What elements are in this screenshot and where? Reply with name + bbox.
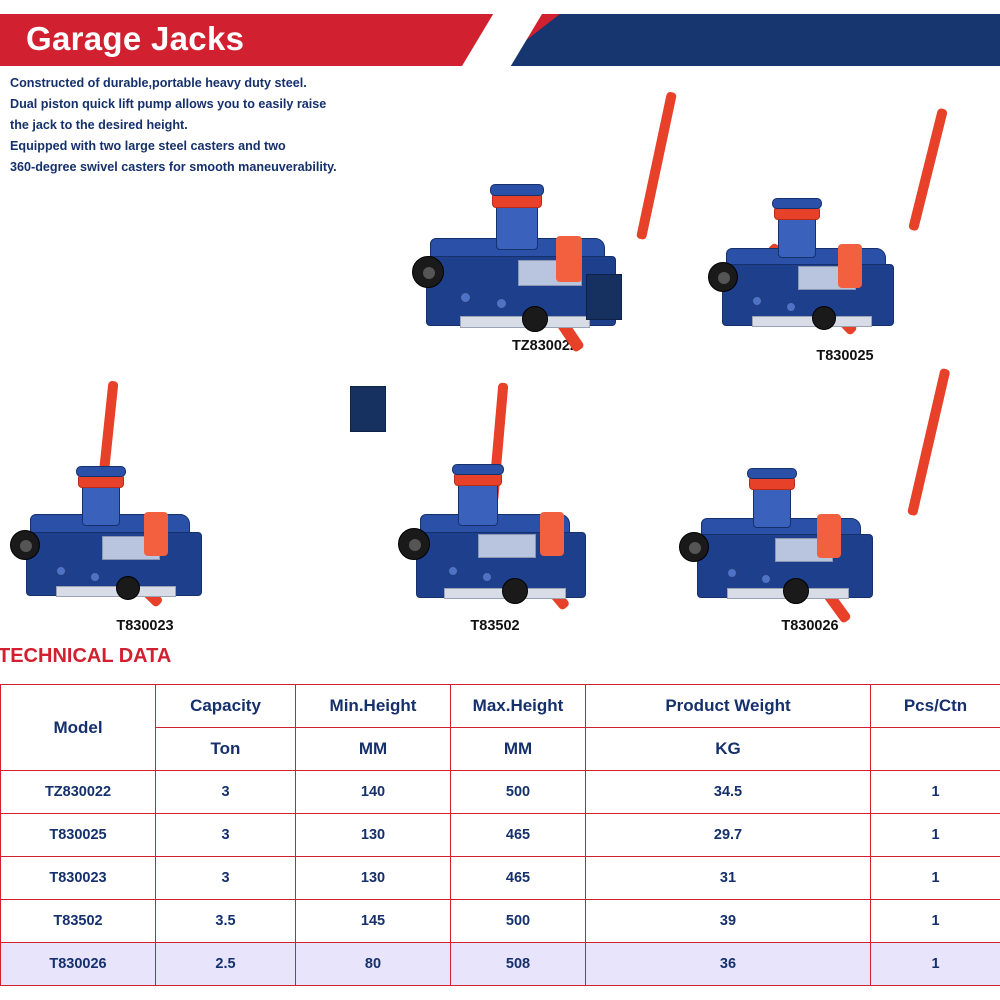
jack-wheel-hub [689,542,701,554]
jack-lift-post [496,202,538,250]
jack-pump-lever [556,236,582,282]
jack-front-caster [783,578,809,604]
garage-jack-illustration [665,386,955,616]
jack-bolt [786,302,796,312]
jack-front-caster [812,306,836,330]
product-photo-t830025 [700,116,990,346]
jack-wheel-hub [718,272,730,284]
product-photo-t830026 [665,386,955,616]
technical-data-heading: TECHNICAL DATA [0,645,171,668]
cell-min-height: 145 [296,900,451,943]
jack-saddle [452,464,504,475]
cell-max-height: 508 [451,943,586,986]
jack-bolt [460,292,471,303]
jack-handle-upper [636,91,677,240]
cell-pcs: 1 [871,814,1000,857]
cell-weight: 31 [586,857,871,900]
description-line: Dual piston quick lift pump allows you t… [10,95,430,114]
table-unit-max-height: MM [451,728,586,771]
jack-rear-wheel [398,528,430,560]
cell-max-height: 500 [451,900,586,943]
product-label: T830023 [0,618,290,634]
table-header-product-weight: Product Weight [586,685,871,728]
table-unit-product-weight: KG [586,728,871,771]
jack-front-caster [522,306,548,332]
cell-model: T830025 [1,814,156,857]
jack-bolt [56,566,66,576]
jack-lift-post [458,482,498,526]
cell-capacity: 3.5 [156,900,296,943]
table-header-min-height: Min.Height [296,685,451,728]
cell-weight: 34.5 [586,771,871,814]
jack-front-caster [502,578,528,604]
table-row: T83502 3.5 145 500 39 1 [1,900,1000,943]
jack-wheel-hub [423,267,435,279]
jack-handle-upper [907,368,950,516]
garage-jack-illustration [400,106,690,336]
garage-jack-illustration [350,386,640,616]
cell-max-height: 500 [451,771,586,814]
cell-weight: 29.7 [586,814,871,857]
product-label: T830026 [665,618,955,634]
cell-pcs: 1 [871,771,1000,814]
jack-bolt [482,572,492,582]
jack-pump-lever [838,244,862,288]
product-photo-tz830022 [400,106,690,336]
jack-rear-block [586,274,622,320]
table-unit-capacity: Ton [156,728,296,771]
table-row: T830025 3 130 465 29.7 1 [1,814,1000,857]
cell-capacity: 2.5 [156,943,296,986]
technical-data-table: Model Capacity Min.Height Max.Height Pro… [0,684,1000,986]
cell-min-height: 130 [296,857,451,900]
table-row: T830023 3 130 465 31 1 [1,857,1000,900]
jack-rear-wheel [679,532,709,562]
cell-model: T830023 [1,857,156,900]
cell-min-height: 140 [296,771,451,814]
table-header-model: Model [1,685,156,771]
jack-rear-block [350,386,386,432]
table-unit-min-height: MM [296,728,451,771]
page-title: Garage Jacks [26,20,244,58]
jack-bolt [448,566,458,576]
jack-front-caster [116,576,140,600]
cell-min-height: 80 [296,943,451,986]
jack-saddle [76,466,126,477]
product-description: Constructed of durable,portable heavy du… [10,74,430,179]
table-header-capacity: Capacity [156,685,296,728]
jack-pump-lever [144,512,168,556]
description-line: the jack to the desired height. [10,116,430,135]
product-label: TZ830022 [400,338,690,354]
cell-weight: 36 [586,943,871,986]
product-card: T83502 [350,386,640,634]
jack-lift-post [753,486,791,528]
cell-model: T83502 [1,900,156,943]
jack-saddle [490,184,544,196]
jack-bolt [727,568,737,578]
technical-data-table-wrapper: Model Capacity Min.Height Max.Height Pro… [0,684,1000,986]
garage-jack-illustration [0,386,290,616]
jack-bolt [752,296,762,306]
jack-bolt [90,572,100,582]
cell-capacity: 3 [156,814,296,857]
jack-rear-wheel [10,530,40,560]
jack-pump-lever [817,514,841,558]
jack-saddle [772,198,822,209]
jack-rear-wheel [412,256,444,288]
table-row: T830026 2.5 80 508 36 1 [1,943,1000,986]
cell-capacity: 3 [156,771,296,814]
jack-rear-wheel [708,262,738,292]
jack-saddle [747,468,797,479]
description-line: Constructed of durable,portable heavy du… [10,74,430,93]
jack-decal [478,534,536,558]
cell-max-height: 465 [451,814,586,857]
table-row: TZ830022 3 140 500 34.5 1 [1,771,1000,814]
product-photo-t830023 [0,386,290,616]
jack-handle-upper [908,108,948,232]
description-line: Equipped with two large steel casters an… [10,137,430,156]
table-header-pcs-ctn: Pcs/Ctn [871,685,1000,728]
jack-bolt [761,574,771,584]
jack-pump-lever [540,512,564,556]
product-photo-t83502 [350,386,640,616]
jack-wheel-hub [20,540,32,552]
jack-bolt [496,298,507,309]
cell-min-height: 130 [296,814,451,857]
table-unit-pcs-ctn [871,728,1000,771]
product-label: T83502 [350,618,640,634]
cell-pcs: 1 [871,943,1000,986]
product-card: T830026 [665,386,955,634]
cell-model: TZ830022 [1,771,156,814]
jack-lift-post [778,216,816,258]
product-card: T830025 [700,116,990,364]
table-header-max-height: Max.Height [451,685,586,728]
page-header-banner: Garage Jacks [0,14,1000,66]
jack-wheel-hub [409,539,421,551]
cell-weight: 39 [586,900,871,943]
product-card: T830023 [0,386,290,634]
cell-max-height: 465 [451,857,586,900]
garage-jack-illustration [700,116,990,346]
cell-capacity: 3 [156,857,296,900]
cell-pcs: 1 [871,857,1000,900]
product-label: T830025 [700,348,990,364]
cell-model: T830026 [1,943,156,986]
product-card: TZ830022 [400,106,690,354]
description-line: 360-degree swivel casters for smooth man… [10,158,430,177]
jack-lift-post [82,484,120,526]
cell-pcs: 1 [871,900,1000,943]
table-header-row: Model Capacity Min.Height Max.Height Pro… [1,685,1000,728]
